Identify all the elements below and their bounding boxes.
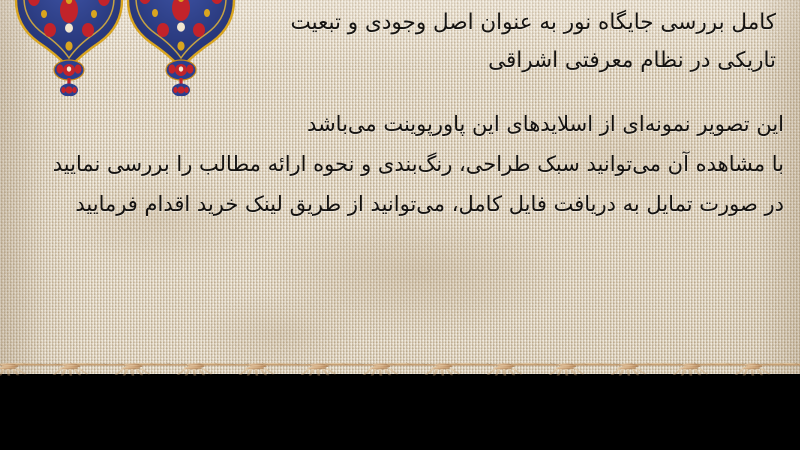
black-floor-background (0, 374, 800, 450)
body-line-1: این تصویر نمونه‌ای از اسلایدهای این پاور… (14, 104, 784, 144)
title-line-1: کامل بررسی جایگاه نور به عنوان اصل وجودی… (24, 4, 776, 42)
slide-title: کامل بررسی جایگاه نور به عنوان اصل وجودی… (24, 4, 776, 80)
title-line-2: تاریکی در نظام معرفتی اشراقی (24, 42, 776, 80)
slide-body-text: این تصویر نمونه‌ای از اسلایدهای این پاور… (14, 104, 784, 224)
slide-canvas: کامل بررسی جایگاه نور به عنوان اصل وجودی… (0, 0, 800, 450)
body-line-3: در صورت تمایل به دریافت فایل کامل، می‌تو… (14, 184, 784, 224)
body-line-2: با مشاهده آن می‌توانید سبک طراحی، رنگ‌بن… (14, 144, 784, 184)
